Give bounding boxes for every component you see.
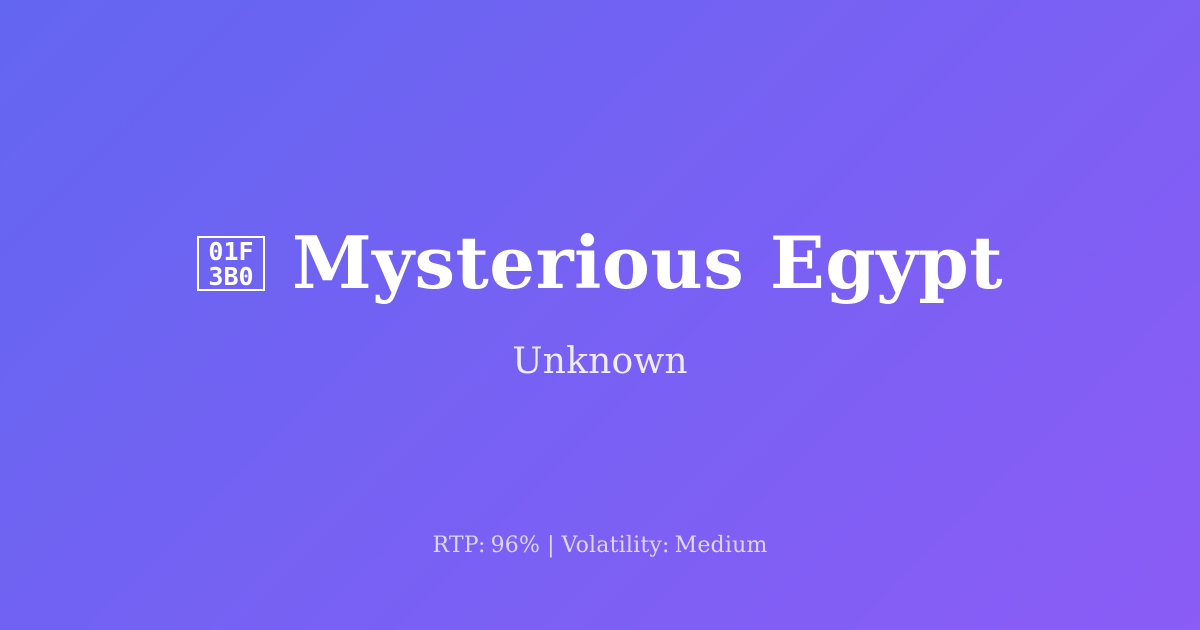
volatility-value: Medium bbox=[675, 532, 768, 560]
meta-separator: | bbox=[540, 532, 561, 560]
hero-block: 01F 3B0 Mysterious Egypt Unknown bbox=[0, 220, 1200, 384]
rtp-value: 96% bbox=[491, 532, 541, 560]
page-title: Mysterious Egypt bbox=[292, 220, 1003, 306]
tofu-codepoint-row-bottom: 3B0 bbox=[208, 264, 253, 289]
slot-machine-icon: 01F 3B0 bbox=[197, 236, 265, 291]
game-meta-strip: RTP: 96% | Volatility: Medium bbox=[0, 532, 1200, 560]
game-provider: Unknown bbox=[512, 340, 688, 384]
tofu-codepoint-row-top: 01F bbox=[208, 239, 253, 264]
game-promo-card: 01F 3B0 Mysterious Egypt Unknown RTP: 96… bbox=[0, 0, 1200, 630]
title-row: 01F 3B0 Mysterious Egypt bbox=[197, 220, 1003, 306]
rtp-label: RTP: bbox=[432, 532, 485, 560]
volatility-label: Volatility: bbox=[562, 532, 670, 560]
